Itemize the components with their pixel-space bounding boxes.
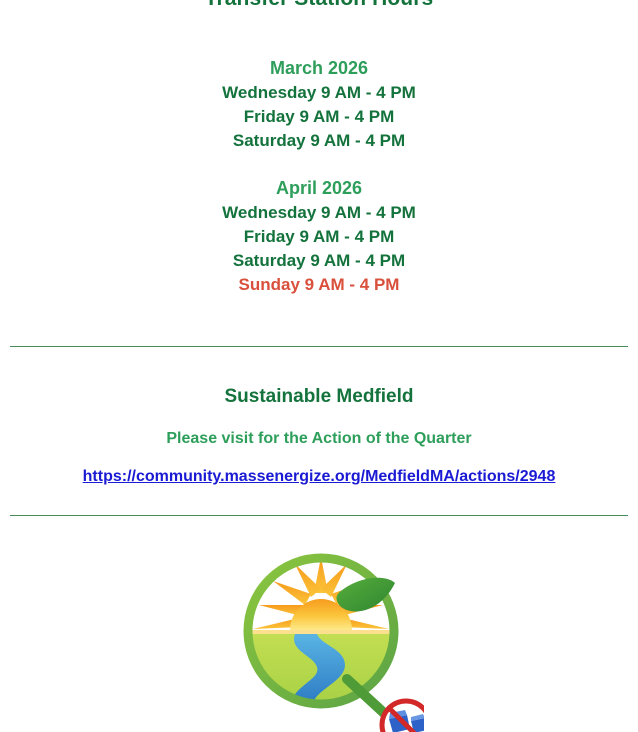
section-divider-bottom	[10, 515, 628, 516]
no-plastic-badge	[381, 700, 424, 732]
page-root: Transfer Station Hours March 2026 Wednes…	[0, 0, 638, 732]
action-of-the-quarter-link[interactable]: https://community.massenergize.org/Medfi…	[83, 466, 556, 488]
hours-line: Saturday 9 AM - 4 PM	[0, 129, 638, 153]
hours-line-sunday: Sunday 9 AM - 4 PM	[0, 273, 638, 297]
sustainable-medfield-title: Sustainable Medfield	[0, 384, 638, 410]
page-title: Transfer Station Hours	[0, 0, 638, 11]
sustainable-medfield-subtitle: Please visit for the Action of the Quart…	[0, 428, 638, 450]
sustainable-medfield-section: Sustainable Medfield Please visit for th…	[0, 384, 638, 488]
month-heading-march: March 2026	[0, 57, 638, 80]
hours-line: Wednesday 9 AM - 4 PM	[0, 201, 638, 225]
hours-line: Friday 9 AM - 4 PM	[0, 105, 638, 129]
sustainable-medfield-logo	[229, 539, 424, 732]
logo-horizon	[252, 630, 390, 634]
section-divider-top	[10, 346, 628, 347]
hours-line: Saturday 9 AM - 4 PM	[0, 249, 638, 273]
hours-line: Friday 9 AM - 4 PM	[0, 225, 638, 249]
hours-group-april: April 2026 Wednesday 9 AM - 4 PM Friday …	[0, 177, 638, 297]
hours-line: Wednesday 9 AM - 4 PM	[0, 81, 638, 105]
month-heading-april: April 2026	[0, 177, 638, 200]
hours-group-march: March 2026 Wednesday 9 AM - 4 PM Friday …	[0, 57, 638, 153]
logo-svg	[229, 539, 424, 732]
